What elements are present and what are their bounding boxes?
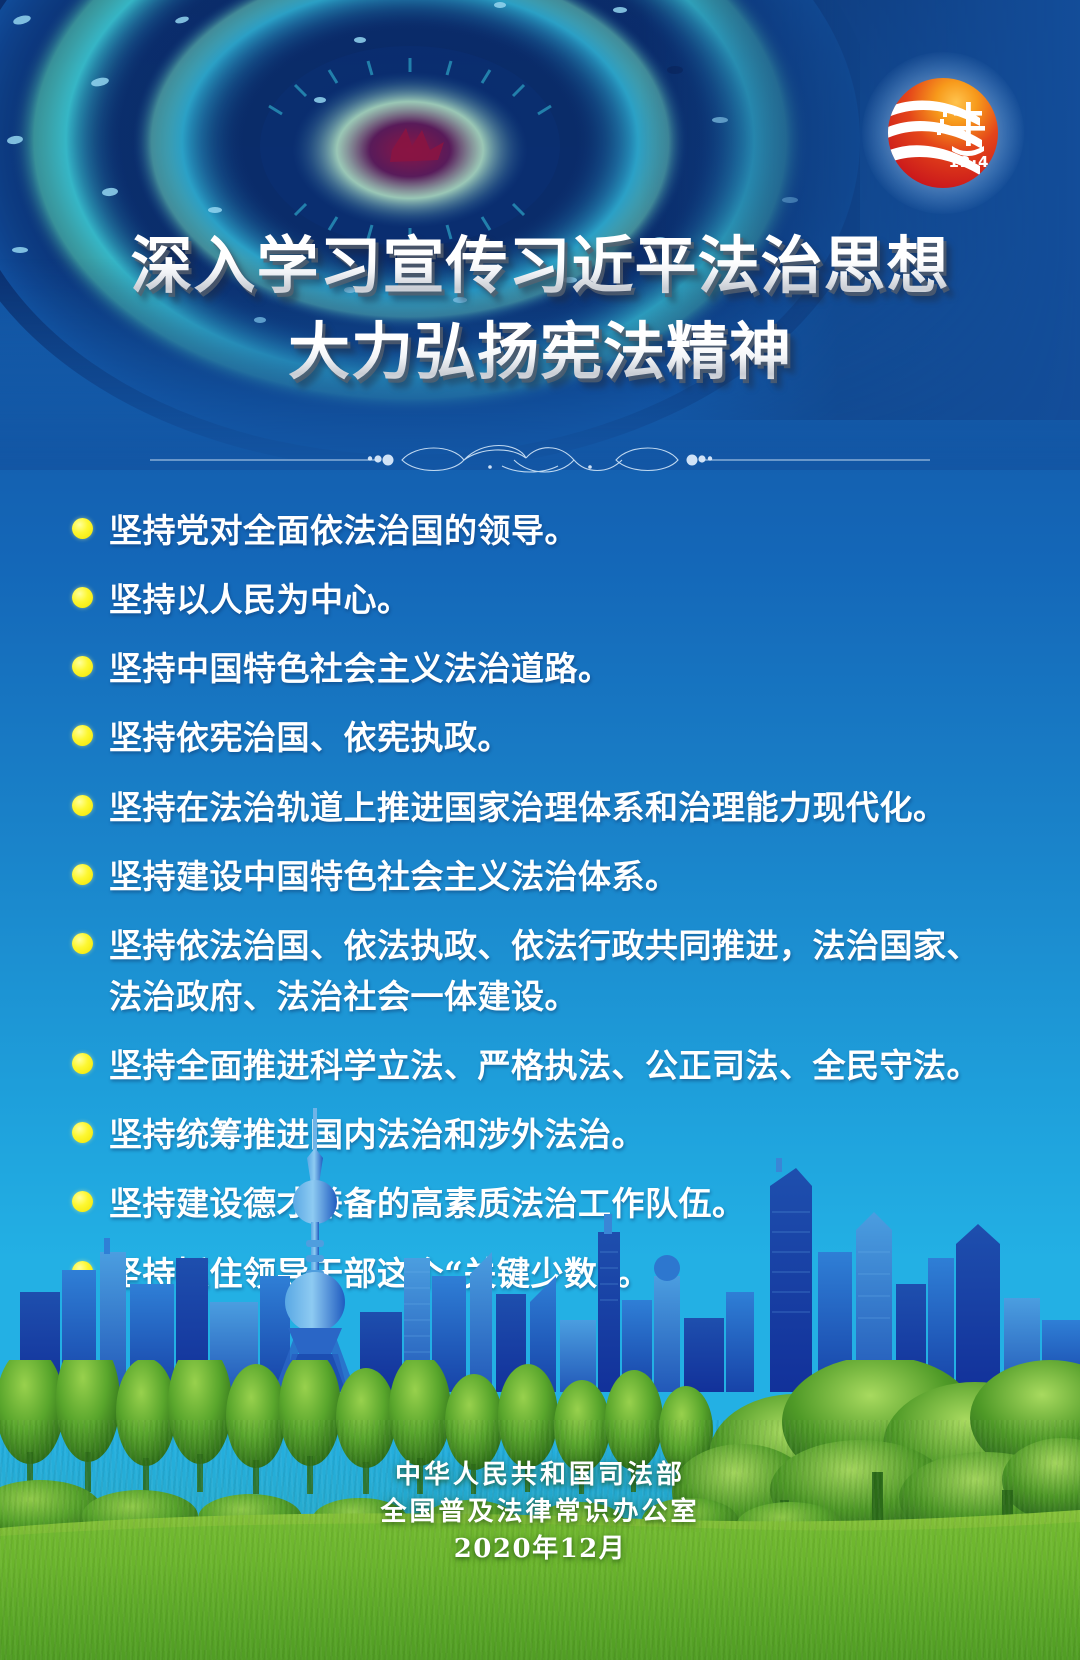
svg-text:12·4: 12·4 [948,153,989,171]
bullet-dot-icon [72,1122,93,1143]
list-item: 坚持统筹推进国内法治和涉外法治。 [72,1109,1012,1160]
list-item-text: 坚持在法治轨道上推进国家治理体系和治理能力现代化。 [109,782,947,833]
bullet-dot-icon [72,1261,93,1282]
list-item-text: 坚持建设中国特色社会主义法治体系。 [109,851,679,902]
ornamental-divider [150,428,930,480]
list-item-text: 坚持全面推进科学立法、严格执法、公正司法、全民守法。 [109,1040,980,1091]
list-item-text: 坚持统筹推进国内法治和涉外法治。 [109,1109,645,1160]
list-item: 坚持党对全面依法治国的领导。 [72,505,1012,556]
list-item: 坚持依宪治国、依宪执政。 [72,712,1012,763]
bullet-dot-icon [72,725,93,746]
list-item-text: 坚持建设德才兼备的高素质法治工作队伍。 [109,1178,746,1229]
list-item: 坚持中国特色社会主义法治道路。 [72,643,1012,694]
bullet-dot-icon [72,864,93,885]
bullet-dot-icon [72,933,93,954]
poster-root: 12·4 深入学习宣传习近平法治思想 大力弘扬宪法精神 [0,0,1080,1660]
title-line-2: 大力弘扬宪法精神 [0,314,1080,390]
list-item: 坚持建设中国特色社会主义法治体系。 [72,851,1012,902]
national-constitution-day-logo: 12·4 [884,74,1002,192]
poster-footer: 中华人民共和国司法部 全国普及法律常识办公室 2020年12月 [0,1457,1080,1568]
footer-issuer-office: 全国普及法律常识办公室 [0,1494,1080,1531]
bullet-dot-icon [72,587,93,608]
list-item: 坚持以人民为中心。 [72,574,1012,625]
list-item-text: 坚持抓住领导干部这个“关键少数”。 [109,1248,650,1299]
footer-date: 2020年12月 [0,1531,1080,1568]
list-item-text: 坚持以人民为中心。 [109,574,411,625]
poster-title: 深入学习宣传习近平法治思想 大力弘扬宪法精神 [0,228,1080,389]
footer-issuer-ministry: 中华人民共和国司法部 [0,1457,1080,1494]
bullet-dot-icon [72,1053,93,1074]
title-line-1: 深入学习宣传习近平法治思想 [0,228,1080,304]
bullet-dot-icon [72,795,93,816]
list-item: 坚持依法治国、依法执政、依法行政共同推进，法治国家、法治政府、法治社会一体建设。 [72,920,1012,1022]
list-item: 坚持抓住领导干部这个“关键少数”。 [72,1248,1012,1299]
list-item: 坚持建设德才兼备的高素质法治工作队伍。 [72,1178,1012,1229]
bullet-dot-icon [72,518,93,539]
list-item-text: 坚持党对全面依法治国的领导。 [109,505,578,556]
list-item: 坚持在法治轨道上推进国家治理体系和治理能力现代化。 [72,782,1012,833]
list-item-text: 坚持依宪治国、依宪执政。 [109,712,511,763]
bullet-dot-icon [72,1191,93,1212]
bullet-dot-icon [72,656,93,677]
list-item: 坚持全面推进科学立法、严格执法、公正司法、全民守法。 [72,1040,1012,1091]
principles-list: 坚持党对全面依法治国的领导。 坚持以人民为中心。 坚持中国特色社会主义法治道路。… [72,505,1012,1317]
list-item-text: 坚持中国特色社会主义法治道路。 [109,643,612,694]
list-item-text: 坚持依法治国、依法执政、依法行政共同推进，法治国家、法治政府、法治社会一体建设。 [109,920,1012,1022]
